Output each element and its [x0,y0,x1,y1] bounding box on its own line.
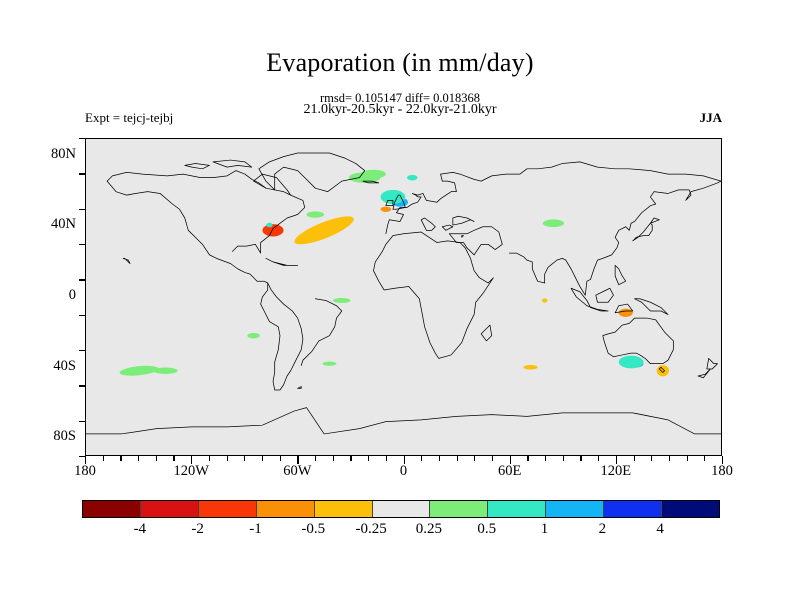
x-tick [227,456,228,461]
experiment-label: Expt = tejcj-tejbj [85,110,173,126]
coastline-path [266,258,298,265]
x-tick [368,456,369,461]
colorbar-band[interactable] [141,501,199,517]
colorbar-band[interactable] [83,501,141,517]
anomaly-patch [247,333,259,339]
x-tick [704,456,705,461]
coastline-path [481,325,492,341]
colorbar-band[interactable] [373,501,431,517]
anomaly-patch [523,365,537,370]
coastline-path [596,288,614,302]
coastline-path [232,174,304,253]
x-axis-label: 60W [262,463,332,480]
x-tick [120,456,121,461]
y-tick [79,138,85,139]
x-tick [421,456,422,461]
x-tick [386,456,387,461]
x-tick [350,456,351,461]
colorbar-band[interactable] [257,501,315,517]
coastline-path [185,164,210,169]
y-axis-label: 40N [0,216,76,233]
x-tick [687,456,688,461]
x-tick [173,456,174,461]
x-tick [333,456,334,461]
season-label: JJA [700,110,722,126]
anomaly-patch [333,298,351,303]
x-tick [598,456,599,461]
x-tick [580,456,581,461]
colorbar-band[interactable] [604,501,662,517]
y-tick [79,456,85,457]
x-tick [669,456,670,461]
anomaly-patch [381,207,392,212]
x-tick [527,456,528,461]
coastline-path [453,216,474,225]
y-tick [79,421,85,422]
coastline-path [635,299,668,315]
coastline-path [509,181,721,295]
x-tick [244,456,245,461]
y-axis-label: 0 [0,287,76,304]
x-tick [474,456,475,461]
x-tick [439,456,440,461]
anomaly-patch [542,298,548,302]
colorbar-band[interactable] [199,501,257,517]
coastline-path [301,299,342,366]
y-tick [79,173,85,174]
y-tick [79,209,85,210]
coastline-path [373,232,493,358]
colorbar-band[interactable] [315,501,373,517]
colorbar-band[interactable] [546,501,604,517]
coastline-path [123,258,130,263]
colorbar-tick-label: 0.25 [399,521,459,538]
x-tick [209,456,210,461]
colorbar-band[interactable] [488,501,546,517]
x-tick [545,456,546,461]
anomaly-patch [262,224,283,236]
colorbar[interactable] [82,500,720,518]
x-axis-label: 180 [687,463,757,480]
coastline-path [421,218,435,230]
anomaly-patch [266,223,272,228]
coastline-path [259,153,365,192]
y-tick [79,315,85,316]
anomaly-patch [307,211,325,217]
colorbar-tick-label: -2 [168,521,228,538]
x-tick [103,456,104,461]
y-tick [79,244,85,245]
x-tick [634,456,635,461]
x-tick [315,456,316,461]
x-axis-label: 180 [50,463,120,480]
x-tick [651,456,652,461]
anomaly-patch [619,309,633,317]
x-axis-label: 120E [581,463,651,480]
coastline-path [615,265,626,284]
anomaly-patch [657,365,669,376]
colorbar-tick-label: 2 [572,521,632,538]
anomaly-patch [407,175,418,181]
coastline-path [698,369,710,378]
colorbar-tick-label: 1 [515,521,575,538]
coastline-path [298,387,302,389]
y-tick [79,385,85,386]
colorbar-band[interactable] [662,501,719,517]
y-axis-label: 80S [0,428,76,445]
y-axis-label: 80N [0,146,76,163]
coastline-path [707,358,718,369]
anomaly-patch [543,219,564,227]
coastline-path [107,181,268,283]
anomaly-patch [322,362,336,366]
coastline-path [442,225,453,230]
x-tick [156,456,157,461]
x-tick [563,456,564,461]
coastline-path [213,160,252,167]
y-axis-label: 40S [0,358,76,375]
x-tick [280,456,281,461]
coastline-path [462,236,464,238]
coastline-path [449,227,502,255]
coastline-path [261,283,303,390]
colorbar-tick-label: -0.25 [341,521,401,538]
anomaly-patch [153,368,178,374]
coastline-path [633,218,660,241]
x-axis-label: 0 [369,463,439,480]
x-tick [457,456,458,461]
anomaly-patch [619,356,644,369]
anomaly-patch [292,211,357,249]
coastline-path [107,171,266,189]
page-title: Evaporation (in mm/day) [0,48,800,78]
anomaly-layer [119,170,669,378]
x-tick [262,456,263,461]
coastline-path [86,408,721,434]
anomaly-patch [119,364,159,377]
x-tick [492,456,493,461]
map-plot-area[interactable] [85,138,722,456]
x-tick [138,456,139,461]
y-tick [79,350,85,351]
x-axis-label: 60E [475,463,545,480]
colorbar-tick-label: 0.5 [457,521,517,538]
colorbar-tick-label: 4 [630,521,690,538]
y-tick [79,279,85,280]
colorbar-tick-label: -0.5 [283,521,343,538]
colorbar-tick-label: -4 [110,521,170,538]
world-map-svg [86,139,721,455]
colorbar-tick-label: -1 [225,521,285,538]
x-axis-label: 120W [156,463,226,480]
colorbar-band[interactable] [430,501,488,517]
